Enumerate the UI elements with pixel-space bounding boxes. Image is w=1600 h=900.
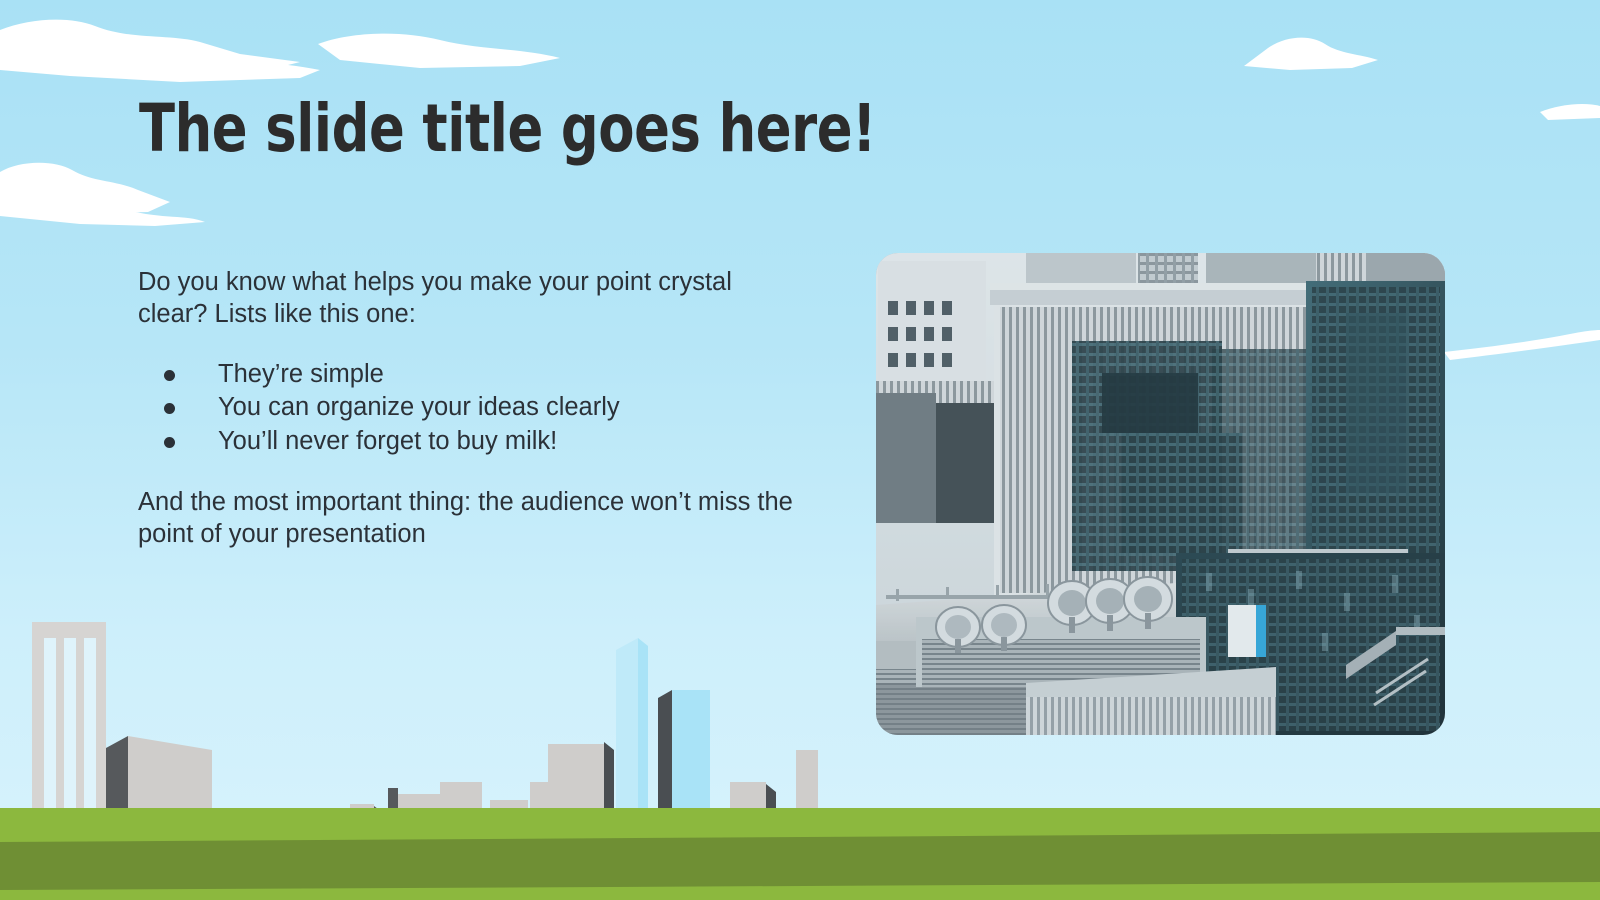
bullet-dot-icon xyxy=(164,370,175,381)
bullet-list: They’re simple You can organize your ide… xyxy=(138,358,798,456)
closing-paragraph: And the most important thing: the audien… xyxy=(138,486,793,550)
list-item: You can organize your ideas clearly xyxy=(138,391,798,423)
list-item: They’re simple xyxy=(138,358,798,390)
slide-canvas: The slide title goes here! Do you know w… xyxy=(0,0,1600,900)
body-text-column: Do you know what helps you make your poi… xyxy=(138,266,798,550)
bullet-dot-icon xyxy=(164,403,175,414)
page-title: The slide title goes here! xyxy=(139,96,876,162)
list-item-label: They’re simple xyxy=(218,360,384,388)
slide-content: The slide title goes here! Do you know w… xyxy=(0,0,1600,900)
bullet-dot-icon xyxy=(164,437,175,448)
list-item-label: You’ll never forget to buy milk! xyxy=(218,427,557,455)
city-photo xyxy=(876,253,1445,735)
lead-paragraph: Do you know what helps you make your poi… xyxy=(138,266,763,330)
list-item: You’ll never forget to buy milk! xyxy=(138,425,798,457)
list-item-label: You can organize your ideas clearly xyxy=(218,393,620,421)
